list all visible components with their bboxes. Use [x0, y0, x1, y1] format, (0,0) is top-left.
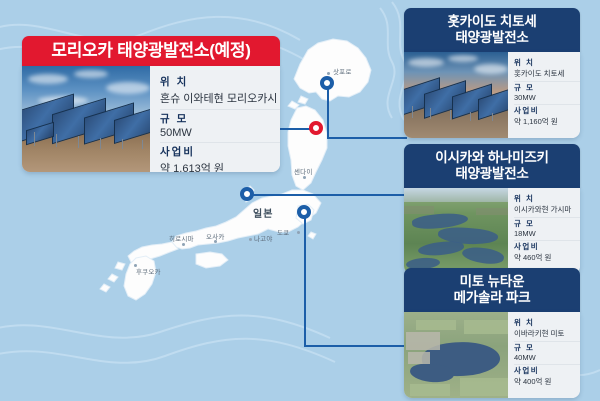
connector-ishikawa	[247, 194, 407, 196]
info-key: 위 치	[160, 74, 280, 89]
info-row: 위 치 홋카이도 치토세	[514, 57, 580, 82]
city-dot-tokyo	[297, 231, 300, 234]
city-label-osaka: 오사카	[206, 231, 225, 241]
card-morioka-info: 위 치 혼슈 이와테현 모리오카시 규 모 50MW 사업비 약 1,613억 …	[150, 66, 280, 172]
card-mito-body: 위 치 이바라키현 미토 규 모 40MW 사업비 약 400억 원	[404, 312, 580, 398]
info-key: 규 모	[514, 342, 580, 353]
morioka-marker[interactable]	[309, 121, 323, 135]
city-label-hiroshima: 히로시마	[169, 233, 194, 243]
info-row: 규 모 40MW	[514, 342, 580, 365]
info-key: 사업비	[160, 144, 280, 159]
card-morioka-photo	[22, 66, 150, 172]
card-morioka-title: 모리오카 태양광발전소(예정)	[22, 36, 280, 66]
city-dot-sapporo	[327, 72, 330, 75]
ishikawa-marker[interactable]	[240, 187, 254, 201]
info-value: 약 400억 원	[514, 376, 580, 387]
info-row: 위 치 이시카와현 가시마	[514, 193, 580, 218]
card-mito-photo	[404, 312, 508, 398]
connector-hokkaido-vertical	[327, 83, 329, 138]
city-dot-sendai	[303, 176, 306, 179]
mito-marker[interactable]	[297, 205, 311, 219]
info-row: 사업비 약 1,613억 원	[160, 143, 280, 172]
card-morioka-body: 위 치 혼슈 이와테현 모리오카시 규 모 50MW 사업비 약 1,613억 …	[22, 66, 280, 172]
card-mito[interactable]: 미토 뉴타운 메가솔라 파크 위 치	[404, 268, 580, 398]
info-value: 혼슈 이와테현 모리오카시	[160, 90, 280, 106]
info-key: 사업비	[514, 241, 580, 252]
info-value: 약 460억 원	[514, 252, 580, 263]
info-row: 사업비 약 460억 원	[514, 241, 580, 265]
info-value: 홋카이도 치토세	[514, 68, 580, 79]
card-hokkaido[interactable]: 홋카이도 치토세 태양광발전소	[404, 8, 580, 138]
card-hokkaido-info: 위 치 홋카이도 치토세 규 모 30MW 사업비 약 1,160억 원	[508, 52, 580, 138]
info-row: 사업비 약 400억 원	[514, 365, 580, 389]
connector-mito-vertical	[304, 212, 306, 346]
country-label-japan: 일본	[253, 205, 273, 220]
card-hokkaido-title: 홋카이도 치토세 태양광발전소	[404, 8, 580, 52]
info-key: 사업비	[514, 105, 580, 116]
info-value: 18MW	[514, 229, 580, 238]
city-label-sapporo: 삿포로	[333, 66, 352, 76]
info-value: 30MW	[514, 93, 580, 102]
info-value: 이시카와현 가시마	[514, 204, 580, 215]
connector-hokkaido-horizontal	[327, 137, 407, 139]
city-label-fukuoka: 후쿠오카	[136, 266, 161, 276]
card-ishikawa-title-line1: 이시카와 하나미즈키	[435, 150, 549, 166]
info-key: 규 모	[514, 218, 580, 229]
city-label-nagoya: 나고야	[254, 233, 273, 243]
info-key: 규 모	[160, 111, 280, 126]
info-row: 사업비 약 1,160억 원	[514, 105, 580, 129]
hokkaido-marker[interactable]	[320, 76, 334, 90]
card-ishikawa-title: 이시카와 하나미즈키 태양광발전소	[404, 144, 580, 188]
card-ishikawa-photo	[404, 188, 508, 274]
info-value: 40MW	[514, 353, 580, 362]
card-mito-title-line1: 미토 뉴타운	[454, 274, 531, 290]
card-hokkaido-body: 위 치 홋카이도 치토세 규 모 30MW 사업비 약 1,160억 원	[404, 52, 580, 138]
info-key: 위 치	[514, 57, 580, 68]
card-morioka[interactable]: 모리오카 태양광발전소(예정)	[22, 36, 280, 172]
card-hokkaido-title-line2: 태양광발전소	[447, 30, 536, 46]
card-ishikawa-info: 위 치 이시카와현 가시마 규 모 18MW 사업비 약 460억 원	[508, 188, 580, 274]
info-key: 위 치	[514, 193, 580, 204]
info-key: 위 치	[514, 317, 580, 328]
infographic-canvas: 일본 삿포로 센다이 도쿄 나고야 오사카 히로시마 후쿠오카 모리오카 태양광…	[0, 0, 600, 401]
info-row: 규 모 18MW	[514, 218, 580, 241]
card-hokkaido-photo	[404, 52, 508, 138]
card-mito-title-line2: 메가솔라 파크	[454, 290, 531, 306]
card-ishikawa-title-line2: 태양광발전소	[435, 166, 549, 182]
info-value: 50MW	[160, 127, 280, 139]
card-mito-info: 위 치 이바라키현 미토 규 모 40MW 사업비 약 400억 원	[508, 312, 580, 398]
city-label-tokyo: 도쿄	[277, 227, 289, 237]
card-hokkaido-title-line1: 홋카이도 치토세	[447, 14, 536, 30]
card-mito-title: 미토 뉴타운 메가솔라 파크	[404, 268, 580, 312]
info-key: 사업비	[514, 365, 580, 376]
info-value: 약 1,160억 원	[514, 116, 580, 127]
city-dot-hiroshima	[182, 243, 185, 246]
city-dot-nagoya	[249, 238, 252, 241]
info-row: 위 치 이바라키현 미토	[514, 317, 580, 342]
info-row: 규 모 30MW	[514, 82, 580, 105]
city-label-sendai: 센다이	[294, 166, 313, 176]
info-value: 약 1,613억 원	[160, 160, 280, 172]
connector-mito-horizontal	[304, 345, 407, 347]
card-ishikawa[interactable]: 이시카와 하나미즈키 태양광발전소	[404, 144, 580, 274]
info-row: 규 모 50MW	[160, 110, 280, 143]
card-ishikawa-body: 위 치 이시카와현 가시마 규 모 18MW 사업비 약 460억 원	[404, 188, 580, 274]
info-key: 규 모	[514, 82, 580, 93]
info-value: 이바라키현 미토	[514, 328, 580, 339]
info-row: 위 치 혼슈 이와테현 모리오카시	[160, 73, 280, 110]
